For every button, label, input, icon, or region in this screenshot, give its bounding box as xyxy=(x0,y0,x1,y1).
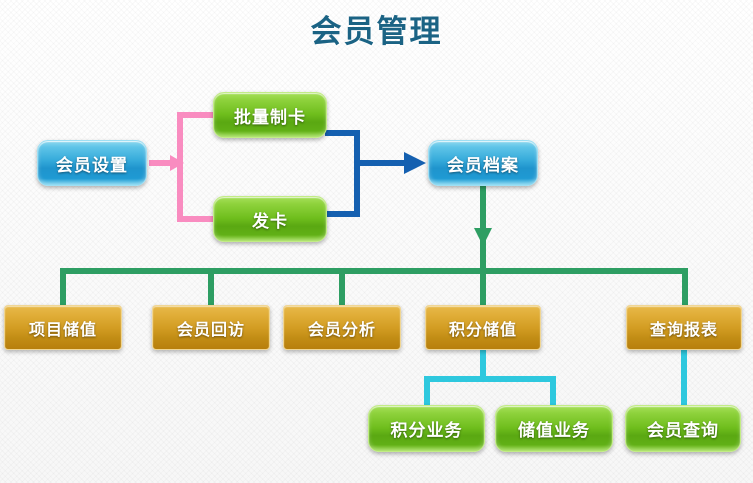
node-batch-card[interactable]: 批量制卡 xyxy=(213,92,327,138)
node-label: 会员查询 xyxy=(647,416,719,441)
connector-point-store-to-biz xyxy=(424,348,556,407)
connector-member-file-to-modules xyxy=(60,186,688,307)
node-point-store[interactable]: 积分储值 xyxy=(425,305,541,350)
node-label: 会员回访 xyxy=(177,316,245,340)
node-label: 积分储值 xyxy=(449,316,517,340)
node-label: 发卡 xyxy=(252,207,288,232)
node-label: 批量制卡 xyxy=(234,103,306,128)
node-label: 会员档案 xyxy=(447,151,519,176)
node-point-biz[interactable]: 积分业务 xyxy=(368,405,485,452)
node-store-biz[interactable]: 储值业务 xyxy=(495,405,613,452)
connector-cards-to-member-file xyxy=(325,133,426,214)
node-member-query[interactable]: 会员查询 xyxy=(625,405,741,452)
node-label: 项目储值 xyxy=(29,316,97,340)
node-query-report[interactable]: 查询报表 xyxy=(626,305,742,350)
node-label: 查询报表 xyxy=(650,316,718,340)
node-label: 积分业务 xyxy=(391,416,463,441)
node-issue-card[interactable]: 发卡 xyxy=(213,196,327,242)
node-member-file[interactable]: 会员档案 xyxy=(428,140,538,186)
diagram-canvas: 会员管理 xyxy=(0,0,753,483)
node-member-setting[interactable]: 会员设置 xyxy=(37,140,147,186)
node-label: 会员设置 xyxy=(56,151,128,176)
node-label: 会员分析 xyxy=(308,316,376,340)
node-project-store[interactable]: 项目储值 xyxy=(4,305,122,350)
node-member-revisit[interactable]: 会员回访 xyxy=(152,305,270,350)
node-member-analyze[interactable]: 会员分析 xyxy=(283,305,401,350)
node-label: 储值业务 xyxy=(518,416,590,441)
connector-member-setting-to-cards xyxy=(149,115,215,219)
